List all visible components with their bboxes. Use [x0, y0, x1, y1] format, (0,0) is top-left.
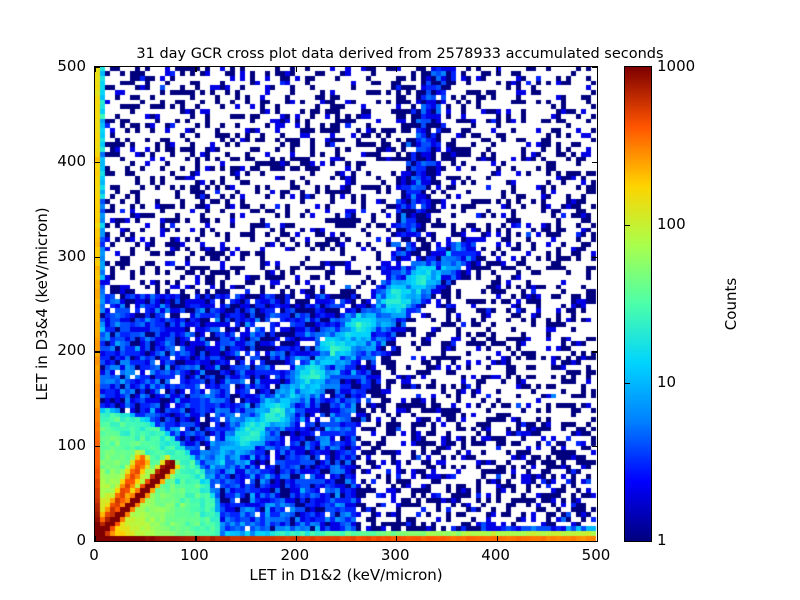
x-tick-label-400: 400: [481, 546, 510, 564]
colorbar-tick-10: [625, 383, 630, 384]
y-tick-right-200: [592, 351, 597, 352]
density-heatmap: [95, 67, 597, 541]
y-tick-label-300: 300: [57, 247, 86, 265]
x-tick-top-100: [195, 67, 196, 72]
y-tick-500: [95, 67, 100, 68]
y-tick-200: [95, 351, 100, 352]
x-tick-label-100: 100: [180, 546, 209, 564]
x-tick-top-400: [497, 67, 498, 72]
x-axis-label: LET in D1&2 (keV/micron): [94, 566, 598, 584]
colorbar[interactable]: [624, 66, 652, 542]
y-tick-0: [95, 541, 100, 542]
y-tick-right-400: [592, 162, 597, 163]
colorbar-tick-100: [625, 225, 630, 226]
y-tick-right-300: [592, 257, 597, 258]
y-axis-label: LET in D3&4 (keV/micron): [33, 66, 51, 542]
colorbar-tick-label-1: 1: [657, 531, 667, 549]
x-tick-500: [597, 536, 598, 541]
colorbar-tick-label-100: 100: [657, 215, 686, 233]
x-tick-label-0: 0: [89, 546, 99, 564]
x-tick-top-200: [296, 67, 297, 72]
x-tick-300: [396, 536, 397, 541]
colorbar-tick-label-10: 10: [657, 373, 676, 391]
y-tick-label-200: 200: [57, 341, 86, 359]
x-tick-400: [497, 536, 498, 541]
colorbar-label: Counts: [722, 66, 740, 542]
y-tick-right-100: [592, 446, 597, 447]
x-tick-200: [296, 536, 297, 541]
x-tick-top-300: [396, 67, 397, 72]
x-tick-top-500: [597, 67, 598, 72]
y-tick-400: [95, 162, 100, 163]
y-tick-label-500: 500: [57, 57, 86, 75]
x-tick-label-500: 500: [582, 546, 611, 564]
x-tick-100: [195, 536, 196, 541]
y-tick-300: [95, 257, 100, 258]
figure-canvas: 31 day GCR cross plot data derived from …: [0, 0, 800, 600]
y-tick-label-400: 400: [57, 152, 86, 170]
y-tick-label-100: 100: [57, 436, 86, 454]
x-tick-label-200: 200: [280, 546, 309, 564]
y-tick-right-0: [592, 541, 597, 542]
colorbar-gradient: [625, 67, 651, 541]
plot-axes[interactable]: [94, 66, 598, 542]
y-tick-right-500: [592, 67, 597, 68]
x-tick-label-300: 300: [381, 546, 410, 564]
colorbar-tick-label-1000: 1000: [657, 57, 695, 75]
y-tick-label-0: 0: [76, 531, 86, 549]
y-tick-100: [95, 446, 100, 447]
